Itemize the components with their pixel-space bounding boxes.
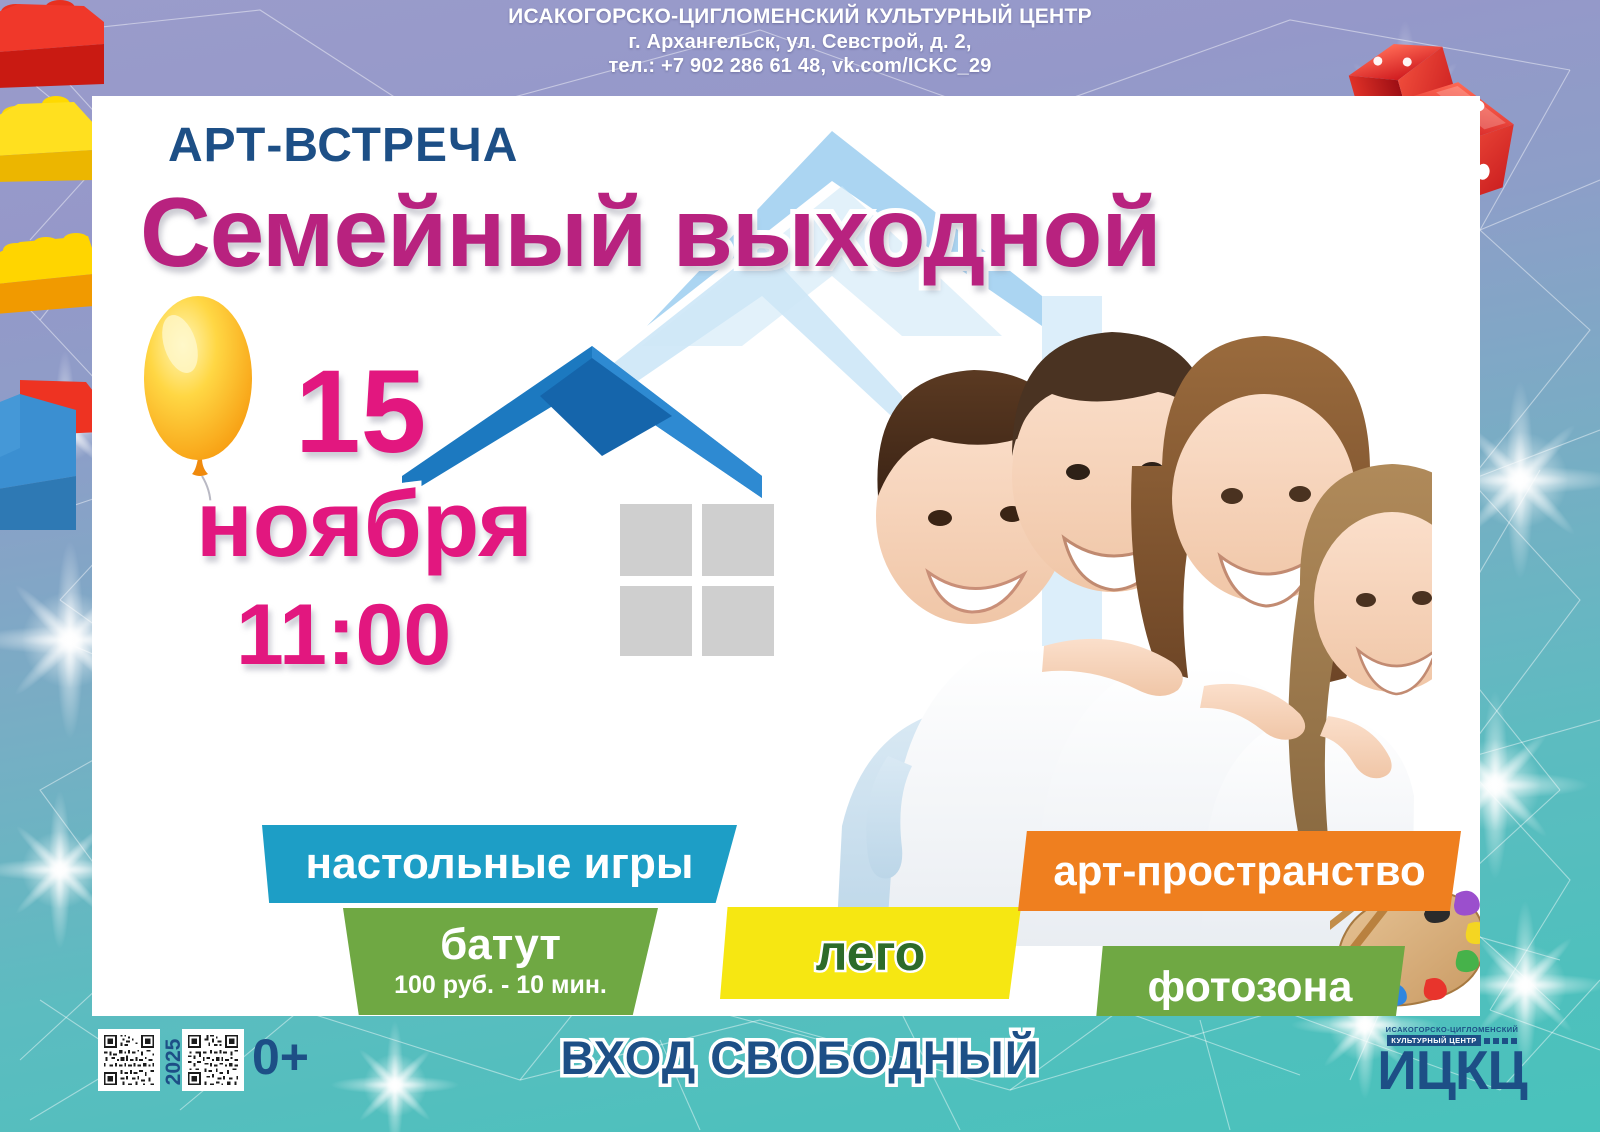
blue-lego-brick-icon	[0, 380, 100, 530]
activity-banner-art-space[interactable]: арт-пространство	[1018, 831, 1461, 911]
activity-banner-lego[interactable]: лего	[720, 907, 1021, 999]
activity-banner-trampoline[interactable]: батут 100 руб. - 10 мин.	[343, 908, 658, 1015]
banner-label: батут	[440, 923, 561, 968]
kicker-text: АРТ-ВСТРЕЧА	[168, 118, 518, 173]
yellow-balloon-icon	[140, 292, 262, 542]
organization-logo: ИСАКОГОРСКО-ЦИГЛОМЕНСКИЙ КУЛЬТУРНЫЙ ЦЕНТ…	[1362, 1025, 1542, 1111]
poster-card: АРТ-ВСТРЕЧА Семейный выходной 15 ноября …	[92, 96, 1480, 1016]
venue-name: ИСАКОГОРСКО-ЦИГЛОМЕНСКИЙ КУЛЬТУРНЫЙ ЦЕНТ…	[0, 4, 1600, 30]
page-title: Семейный выходной	[140, 176, 1161, 289]
yellow-lego-brick-icon	[0, 96, 94, 186]
free-entry-text: ВХОД СВОБОДНЫЙ	[0, 1030, 1600, 1085]
red-lego-brick-icon	[0, 0, 104, 92]
banner-label: арт-пространство	[1053, 850, 1425, 893]
date-day: 15	[295, 344, 426, 480]
logo-line-1: ИСАКОГОРСКО-ЦИГЛОМЕНСКИЙ	[1362, 1025, 1542, 1034]
logo-abbreviation: ИЦКЦ	[1362, 1044, 1542, 1096]
poster-canvas: ИСАКОГОРСКО-ЦИГЛОМЕНСКИЙ КУЛЬТУРНЫЙ ЦЕНТ…	[0, 0, 1600, 1132]
banner-label: настольные игры	[306, 842, 694, 887]
banner-label: лего	[816, 928, 926, 979]
date-time: 11:00	[236, 586, 451, 685]
activity-banner-games[interactable]: настольные игры	[262, 825, 737, 903]
activity-banner-photozone[interactable]: фотозона	[1095, 946, 1405, 1016]
banner-label: фотозона	[1148, 966, 1353, 1010]
banner-sublabel: 100 руб. - 10 мин.	[394, 970, 607, 1000]
orange-lego-brick-icon	[0, 232, 94, 318]
